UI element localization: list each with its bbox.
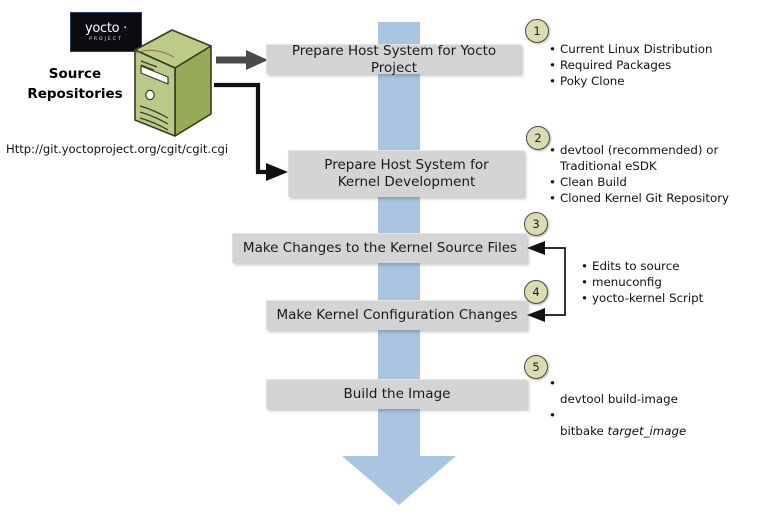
list-item: Clean Build (548, 174, 766, 190)
source-label-line2: Repositories (10, 84, 140, 104)
process-box-step-4[interactable]: Make Kernel Configuration Changes (266, 300, 527, 330)
process-box-step-3[interactable]: Make Changes to the Kernel Source Files (232, 233, 527, 263)
step-2-bullet-list: devtool (recommended) or Traditional eSD… (548, 142, 766, 206)
process-box-step-1[interactable]: Prepare Host System for Yocto Project (266, 44, 521, 74)
step-number-3: 3 (524, 212, 548, 236)
source-repository-url: Http://git.yoctoproject.org/cgit/cgit.cg… (6, 142, 228, 156)
logo-subtext: PROJECT (89, 36, 123, 43)
process-box-step-5[interactable]: Build the Image (266, 379, 527, 409)
list-item: yocto-kernel Script (580, 290, 760, 306)
list-item: devtool (recommended) or Traditional eSD… (548, 142, 766, 174)
step-number-1: 1 (525, 19, 549, 43)
list-item: Required Packages (548, 57, 763, 73)
list-item: menuconfig (580, 274, 760, 290)
diagram-canvas: yocto · PROJECT Source Repositories Http… (0, 0, 769, 517)
list-item: bitbake target_image (548, 407, 758, 439)
list-item: Current Linux Distribution (548, 41, 763, 57)
step-5-bullet-list: devtool build-image bitbake target_image (548, 375, 758, 439)
step-number-5: 5 (524, 355, 548, 379)
workflow-down-arrow-icon (340, 422, 458, 506)
connector-server-to-step2 (214, 85, 288, 181)
source-label-line1: Source (10, 64, 140, 84)
list-item: devtool build-image (548, 375, 758, 407)
server-tower-icon (130, 28, 216, 140)
list-item: Edits to source (580, 258, 760, 274)
step5-bullet-2-text: bitbake (560, 424, 608, 438)
workflow-spine (378, 22, 420, 424)
process-box-step-2[interactable]: Prepare Host System for Kernel Developme… (288, 150, 524, 197)
list-item: Cloned Kernel Git Repository (548, 190, 766, 206)
step-1-bullet-list: Current Linux Distribution Required Pack… (548, 41, 763, 89)
connector-server-to-step1 (216, 50, 268, 70)
step5-bullet-2-italic: target_image (608, 424, 687, 438)
logo-wordmark: yocto · (85, 22, 127, 35)
step-number-4: 4 (524, 280, 548, 304)
steps-3-4-bullet-list: Edits to source menuconfig yocto-kernel … (580, 258, 760, 306)
step5-bullet-1-text: devtool build-image (560, 392, 678, 406)
source-repositories-label: Source Repositories (10, 64, 140, 104)
list-item: Poky Clone (548, 73, 763, 89)
step-number-2: 2 (526, 126, 550, 150)
